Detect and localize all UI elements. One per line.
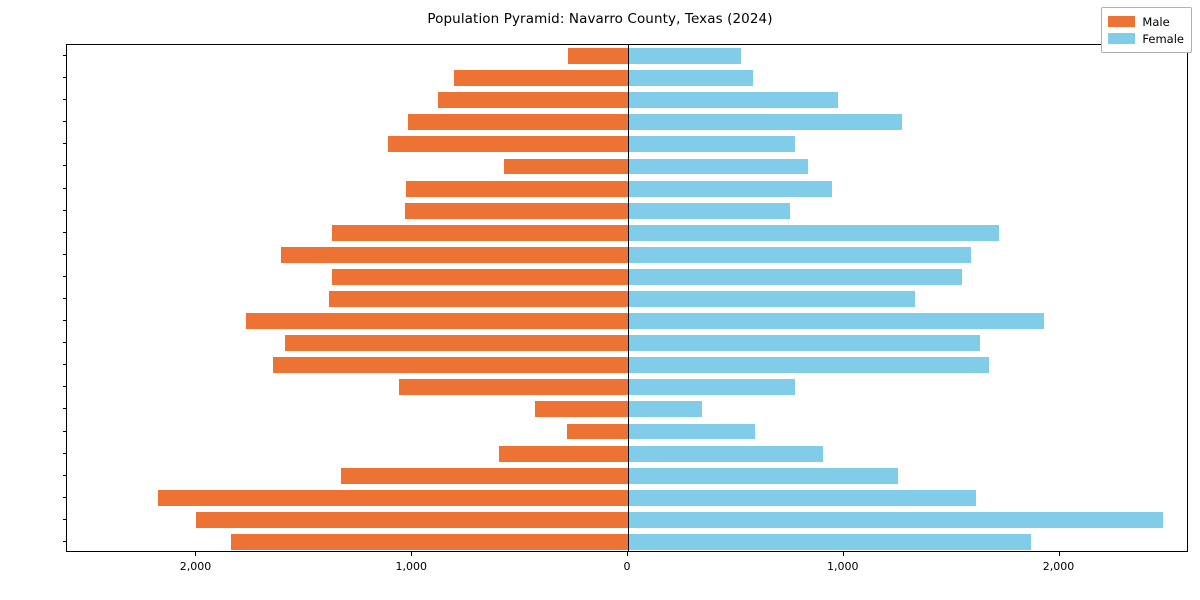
y-axis-tick-mark bbox=[63, 475, 67, 476]
bar-male[interactable] bbox=[329, 291, 628, 307]
bar-row bbox=[67, 247, 1187, 263]
bar-female[interactable] bbox=[628, 379, 795, 395]
y-axis-tick-mark bbox=[63, 254, 67, 255]
chart-legend: Male Female bbox=[1101, 7, 1192, 53]
bar-row bbox=[67, 225, 1187, 241]
legend-swatch-male bbox=[1108, 16, 1135, 27]
y-axis-tick-mark bbox=[63, 497, 67, 498]
bar-female[interactable] bbox=[628, 269, 962, 285]
y-axis-tick-mark bbox=[63, 453, 67, 454]
bar-female[interactable] bbox=[628, 401, 702, 417]
y-axis-tick-mark bbox=[63, 519, 67, 520]
plot-area bbox=[66, 44, 1188, 552]
bar-male[interactable] bbox=[567, 424, 628, 440]
bar-male[interactable] bbox=[438, 92, 628, 108]
y-axis-tick-mark bbox=[63, 55, 67, 56]
bar-male[interactable] bbox=[332, 225, 628, 241]
bar-row bbox=[67, 92, 1187, 108]
bar-row bbox=[67, 291, 1187, 307]
bars-layer bbox=[67, 45, 1187, 551]
bar-row bbox=[67, 48, 1187, 64]
bar-male[interactable] bbox=[454, 70, 628, 86]
y-axis-tick-mark bbox=[63, 541, 67, 542]
legend-swatch-female bbox=[1108, 33, 1135, 44]
bar-male[interactable] bbox=[281, 247, 628, 263]
bar-row bbox=[67, 136, 1187, 152]
bar-row bbox=[67, 269, 1187, 285]
bar-female[interactable] bbox=[628, 247, 971, 263]
bar-female[interactable] bbox=[628, 534, 1031, 550]
legend-label-female: Female bbox=[1142, 32, 1184, 46]
bar-female[interactable] bbox=[628, 136, 795, 152]
legend-item-male[interactable]: Male bbox=[1108, 13, 1184, 30]
bar-row bbox=[67, 313, 1187, 329]
y-axis-tick-mark bbox=[63, 386, 67, 387]
bar-male[interactable] bbox=[535, 401, 628, 417]
bar-male[interactable] bbox=[499, 446, 628, 462]
y-axis-tick-mark bbox=[63, 298, 67, 299]
y-axis-tick-mark bbox=[63, 364, 67, 365]
legend-item-female[interactable]: Female bbox=[1108, 30, 1184, 47]
y-axis-tick-mark bbox=[63, 232, 67, 233]
bar-female[interactable] bbox=[628, 512, 1163, 528]
x-axis-tick-mark bbox=[195, 552, 196, 556]
bar-male[interactable] bbox=[285, 335, 628, 351]
bar-row bbox=[67, 490, 1187, 506]
bar-row bbox=[67, 357, 1187, 373]
bar-female[interactable] bbox=[628, 114, 902, 130]
bar-male[interactable] bbox=[406, 181, 628, 197]
bar-female[interactable] bbox=[628, 357, 989, 373]
bar-female[interactable] bbox=[628, 70, 753, 86]
bar-male[interactable] bbox=[388, 136, 628, 152]
bar-row bbox=[67, 335, 1187, 351]
bar-female[interactable] bbox=[628, 335, 980, 351]
bar-female[interactable] bbox=[628, 468, 898, 484]
population-pyramid-figure: Population Pyramid: Navarro County, Texa… bbox=[0, 0, 1200, 600]
bar-row bbox=[67, 424, 1187, 440]
x-axis-tick-label: 1,000 bbox=[827, 560, 859, 573]
bar-male[interactable] bbox=[408, 114, 628, 130]
bar-male[interactable] bbox=[341, 468, 628, 484]
y-axis-tick-mark bbox=[63, 165, 67, 166]
bar-male[interactable] bbox=[399, 379, 628, 395]
bar-female[interactable] bbox=[628, 446, 823, 462]
bar-female[interactable] bbox=[628, 203, 790, 219]
y-axis-tick-mark bbox=[63, 188, 67, 189]
bar-row bbox=[67, 401, 1187, 417]
x-axis-tick-mark bbox=[627, 552, 628, 556]
bar-male[interactable] bbox=[405, 203, 628, 219]
bar-row bbox=[67, 114, 1187, 130]
bar-row bbox=[67, 468, 1187, 484]
y-axis-tick-mark bbox=[63, 99, 67, 100]
bar-row bbox=[67, 534, 1187, 550]
bar-female[interactable] bbox=[628, 291, 915, 307]
x-axis-tick-label: 2,000 bbox=[180, 560, 212, 573]
y-axis-tick-mark bbox=[63, 77, 67, 78]
bar-row bbox=[67, 512, 1187, 528]
y-axis-tick-mark bbox=[63, 143, 67, 144]
bar-row bbox=[67, 70, 1187, 86]
x-axis-tick-label: 0 bbox=[624, 560, 631, 573]
bar-male[interactable] bbox=[246, 313, 628, 329]
y-axis-tick-mark bbox=[63, 320, 67, 321]
x-axis-tick-mark bbox=[411, 552, 412, 556]
y-axis-tick-mark bbox=[63, 276, 67, 277]
bar-row bbox=[67, 181, 1187, 197]
x-axis-tick-mark bbox=[1059, 552, 1060, 556]
x-axis-tick-label: 1,000 bbox=[395, 560, 427, 573]
bar-male[interactable] bbox=[231, 534, 628, 550]
bar-row bbox=[67, 159, 1187, 175]
bar-female[interactable] bbox=[628, 225, 999, 241]
y-axis-tick-mark bbox=[63, 342, 67, 343]
bar-male[interactable] bbox=[332, 269, 628, 285]
bar-female[interactable] bbox=[628, 92, 838, 108]
bar-female[interactable] bbox=[628, 159, 808, 175]
bar-male[interactable] bbox=[273, 357, 628, 373]
bar-female[interactable] bbox=[628, 313, 1044, 329]
y-axis-tick-mark bbox=[63, 210, 67, 211]
x-axis-tick-label: 2,000 bbox=[1043, 560, 1075, 573]
bar-male[interactable] bbox=[504, 159, 628, 175]
x-axis-tick-mark bbox=[843, 552, 844, 556]
zero-axis-line bbox=[628, 45, 629, 551]
bar-male[interactable] bbox=[568, 48, 628, 64]
bar-female[interactable] bbox=[628, 424, 755, 440]
page-title: Population Pyramid: Navarro County, Texa… bbox=[0, 11, 1200, 27]
bar-row bbox=[67, 446, 1187, 462]
bar-female[interactable] bbox=[628, 48, 741, 64]
y-axis-tick-mark bbox=[63, 408, 67, 409]
bar-female[interactable] bbox=[628, 490, 976, 506]
bar-row bbox=[67, 379, 1187, 395]
bar-male[interactable] bbox=[196, 512, 628, 528]
y-axis-tick-mark bbox=[63, 121, 67, 122]
bar-female[interactable] bbox=[628, 181, 832, 197]
legend-label-male: Male bbox=[1142, 15, 1169, 29]
y-axis-tick-mark bbox=[63, 431, 67, 432]
bar-row bbox=[67, 203, 1187, 219]
bar-male[interactable] bbox=[158, 490, 628, 506]
